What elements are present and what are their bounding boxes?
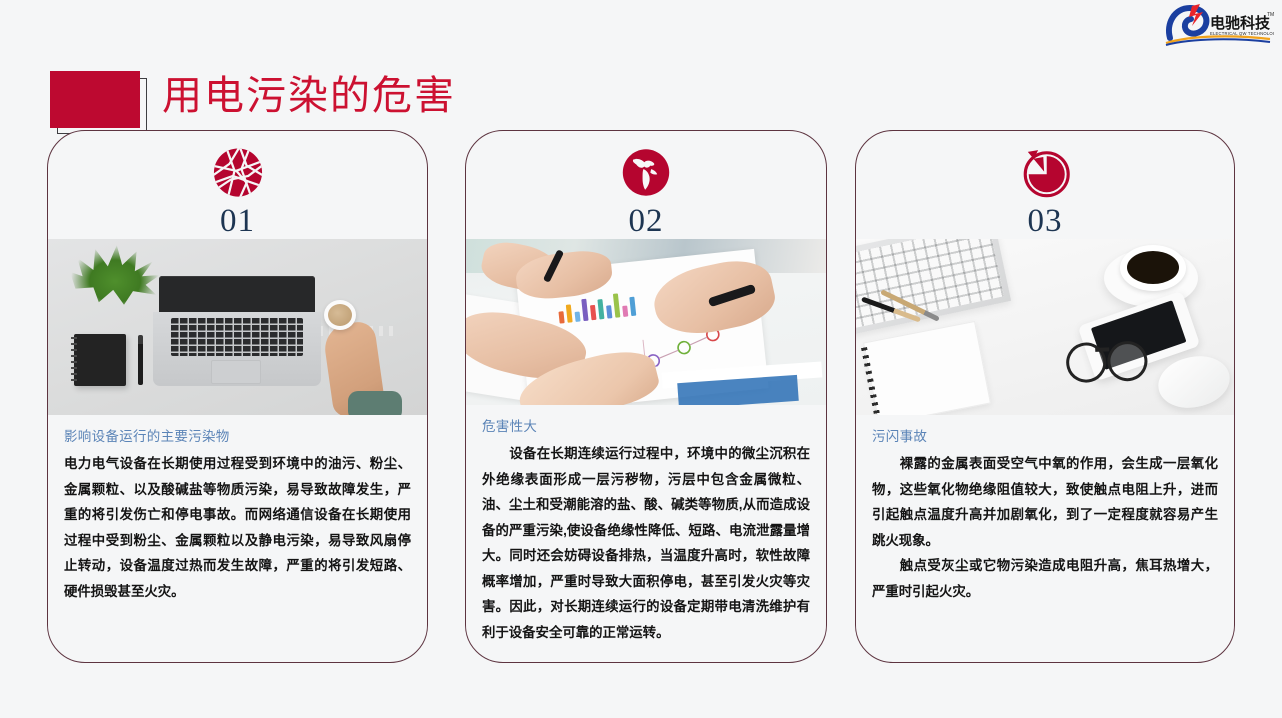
- card-header-03: 03: [856, 131, 1234, 239]
- keyboard-decor: [856, 239, 1011, 335]
- card-body-02: 危害性大 设备在长期连续运行过程中，环境中的微尘沉积在外绝缘表面形成一层污秽物，…: [466, 405, 826, 645]
- card-header-02: 02: [466, 131, 826, 239]
- card-heading-01: 影响设备运行的主要污染物: [64, 427, 411, 447]
- svg-text:TM: TM: [1267, 12, 1274, 18]
- title-block: 用电污染的危害: [0, 28, 700, 128]
- eyeglasses-decor: [1061, 323, 1164, 393]
- card-number-01: 01: [220, 203, 255, 239]
- logo-mark-icon: 电驰科技 ELECTRICAL QW TECHNOLOGY TM: [1162, 2, 1274, 46]
- card-text-01: 电力电气设备在长期使用过程受到环境中的油污、粉尘、金属颗粒、以及酸碱盐等物质污染…: [64, 451, 411, 604]
- sleeve-decor: [348, 391, 402, 415]
- page-title: 用电污染的危害: [162, 66, 456, 126]
- card-number-02: 02: [629, 203, 664, 239]
- title-accent-square: [50, 71, 140, 128]
- cracked-globe-network-icon: [207, 145, 269, 200]
- card-number-03: 03: [1028, 203, 1063, 239]
- laptop-keys-decor: [171, 318, 303, 356]
- pen-decor: [138, 335, 143, 385]
- notepad-decor: [863, 321, 991, 415]
- svg-text:电驰科技: 电驰科技: [1210, 14, 1271, 32]
- card-header-01: 01: [48, 131, 427, 239]
- card-heading-03: 污闪事故: [872, 427, 1218, 447]
- pie-chart-slice-icon: [1014, 145, 1076, 200]
- notebook-decor: [74, 334, 126, 386]
- card-heading-02: 危害性大: [482, 417, 810, 437]
- card-text-03: 裸露的金属表面受空气中氧的作用，会生成一层氧化物，这些氧化物绝缘阻值较大，致使触…: [872, 451, 1218, 604]
- coffee-cup-decor: [1120, 245, 1186, 291]
- laptop-trackpad-decor: [211, 360, 261, 384]
- card-paragraph: 触点受灰尘或它物污染造成电阻升高，焦耳热增大，严重时引起火灾。: [872, 553, 1218, 604]
- laptop-screen-decor: [159, 276, 315, 312]
- content-card-02[interactable]: 02: [465, 130, 827, 663]
- card-image-01: [48, 239, 427, 415]
- card-body-03: 污闪事故 裸露的金属表面受空气中氧的作用，会生成一层氧化物，这些氧化物绝缘阻值较…: [856, 415, 1234, 604]
- plant-decor: [70, 244, 160, 306]
- svg-text:ELECTRICAL QW TECHNOLOGY: ELECTRICAL QW TECHNOLOGY: [1210, 31, 1274, 36]
- slide-root: 电驰科技 ELECTRICAL QW TECHNOLOGY TM 用电污染的危害: [0, 0, 1282, 718]
- card-body-01: 影响设备运行的主要污染物 电力电气设备在长期使用过程受到环境中的油污、粉尘、金属…: [48, 415, 427, 604]
- mouse-decor: [1154, 350, 1234, 414]
- card-image-02: [466, 239, 826, 405]
- world-globe-icon: [615, 145, 677, 200]
- content-card-03[interactable]: 03 污闪事故 裸露的金属表面受空气中氧的作用，会生成一层氧化物，这些氧化物绝缘…: [855, 130, 1235, 663]
- card-paragraph: 电力电气设备在长期使用过程受到环境中的油污、粉尘、金属颗粒、以及酸碱盐等物质污染…: [64, 451, 411, 604]
- coffee-cup-decor: [324, 300, 356, 330]
- card-paragraph: 设备在长期连续运行过程中，环境中的微尘沉积在外绝缘表面形成一层污秽物，污层中包含…: [482, 441, 810, 645]
- card-image-03: [856, 239, 1234, 415]
- company-logo: 电驰科技 ELECTRICAL QW TECHNOLOGY TM: [1162, 2, 1274, 46]
- card-paragraph: 裸露的金属表面受空气中氧的作用，会生成一层氧化物，这些氧化物绝缘阻值较大，致使触…: [872, 451, 1218, 553]
- content-card-01[interactable]: 01 影响设备运行的主要污染物 电力电气设备在长期使用过程受到环境中的油污、粉尘…: [47, 130, 428, 663]
- card-text-02: 设备在长期连续运行过程中，环境中的微尘沉积在外绝缘表面形成一层污秽物，污层中包含…: [482, 441, 810, 645]
